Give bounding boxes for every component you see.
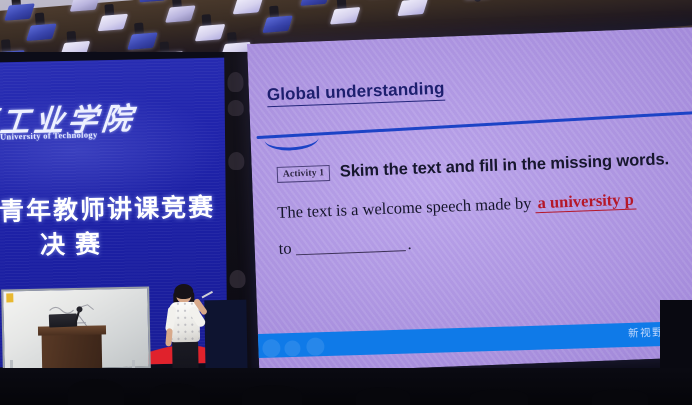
- whiteboard-clip: [6, 293, 13, 302]
- projected-slide: Global understanding Activity 1 Skim the…: [247, 27, 692, 374]
- audience-silhouette: [150, 383, 200, 405]
- audience-silhouette: [68, 379, 124, 405]
- audience-silhouette: [592, 389, 648, 405]
- podium-top: [38, 325, 106, 335]
- audience-silhouette: [470, 389, 528, 405]
- banner-headline-line2: 决赛: [40, 222, 201, 261]
- lecture-hall-screenshot: 疆工业学院 injiang University of Technology 届…: [0, 0, 692, 405]
- body-line2-text: to: [278, 238, 292, 257]
- filled-answer-red: a university p: [535, 190, 636, 214]
- body-line2-period: .: [407, 234, 412, 253]
- activity-badge: Activity 1: [277, 165, 331, 183]
- blank-underline: [295, 238, 405, 255]
- audience-silhouette: [356, 387, 410, 405]
- side-panel-screen: [204, 300, 247, 379]
- audience-silhouette: [242, 385, 302, 405]
- presenter-hair: [174, 284, 193, 299]
